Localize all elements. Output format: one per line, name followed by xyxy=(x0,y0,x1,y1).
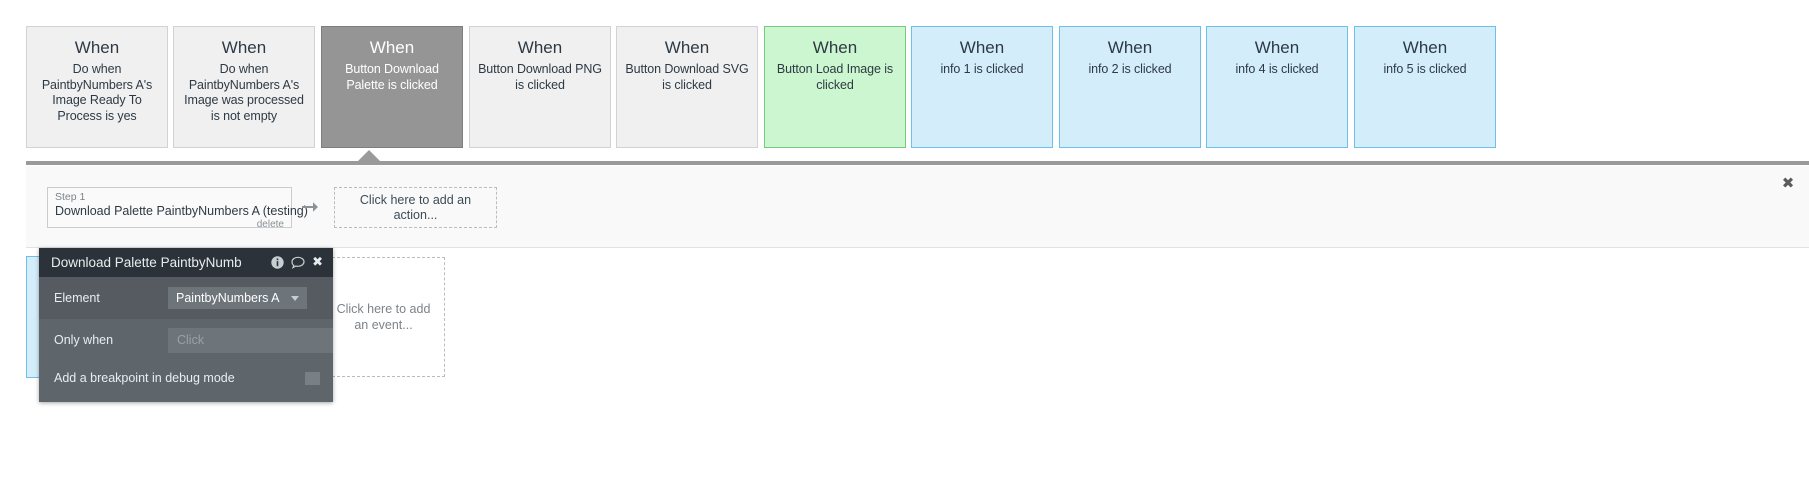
event-card-when-label: When xyxy=(1355,37,1495,59)
event-card-when-label: When xyxy=(617,37,757,59)
arrow-right-icon xyxy=(301,199,319,215)
step-number-label: Step 1 xyxy=(55,191,284,204)
step-card[interactable]: Step 1 Download Palette PaintbyNumbers A… xyxy=(47,187,292,228)
step-delete-link[interactable]: delete xyxy=(55,219,284,230)
event-card-condition: Button Download SVG is clicked xyxy=(617,62,757,93)
breakpoint-checkbox[interactable] xyxy=(305,372,320,385)
event-card-condition: Do when PaintbyNumbers A's Image Ready T… xyxy=(27,62,167,124)
event-card-when-label: When xyxy=(322,37,462,59)
workflow-editor: When Do when PaintbyNumbers A's Image Re… xyxy=(0,0,1809,500)
event-card-0[interactable]: When Do when PaintbyNumbers A's Image Re… xyxy=(26,26,168,148)
event-card-3[interactable]: When Button Download PNG is clicked xyxy=(469,26,611,148)
popup-header: Download Palette PaintbyNumb ✖ xyxy=(39,248,333,277)
event-card-7[interactable]: When info 2 is clicked xyxy=(1059,26,1201,148)
event-card-5[interactable]: When Button Load Image is clicked xyxy=(764,26,906,148)
event-card-2-selected[interactable]: When Button Download Palette is clicked xyxy=(321,26,463,148)
element-field-label: Element xyxy=(54,291,168,305)
comment-icon[interactable] xyxy=(291,256,305,269)
step-title: Download Palette PaintbyNumbers A (testi… xyxy=(55,204,284,219)
event-card-condition: info 1 is clicked xyxy=(912,62,1052,78)
selected-event-pointer xyxy=(358,150,380,161)
event-card-1[interactable]: When Do when PaintbyNumbers A's Image wa… xyxy=(173,26,315,148)
event-card-condition: info 2 is clicked xyxy=(1060,62,1200,78)
event-card-9[interactable]: When info 5 is clicked xyxy=(1354,26,1496,148)
close-icon[interactable]: ✖ xyxy=(1781,176,1795,190)
panel-divider-bar xyxy=(26,161,1809,165)
actions-panel: ✖ Step 1 Download Palette PaintbyNumbers… xyxy=(26,166,1809,248)
element-select[interactable]: PaintbyNumbers A xyxy=(168,287,307,309)
add-action-button[interactable]: Click here to add an action... xyxy=(334,187,497,228)
event-card-when-label: When xyxy=(470,37,610,59)
event-card-condition: Do when PaintbyNumbers A's Image was pro… xyxy=(174,62,314,124)
event-card-8[interactable]: When info 4 is clicked xyxy=(1206,26,1348,148)
breakpoint-label: Add a breakpoint in debug mode xyxy=(54,371,305,385)
chevron-down-icon xyxy=(291,296,299,301)
event-card-when-label: When xyxy=(27,37,167,59)
event-card-6[interactable]: When info 1 is clicked xyxy=(911,26,1053,148)
event-card-condition: info 4 is clicked xyxy=(1207,62,1347,78)
event-card-condition: Button Download Palette is clicked xyxy=(322,62,462,93)
event-card-when-label: When xyxy=(1207,37,1347,59)
event-card-when-label: When xyxy=(765,37,905,59)
event-card-when-label: When xyxy=(912,37,1052,59)
info-icon[interactable] xyxy=(271,256,284,269)
element-select-value: PaintbyNumbers A xyxy=(176,291,280,305)
popup-row-element: Element PaintbyNumbers A xyxy=(39,277,333,319)
action-properties-popup: Download Palette PaintbyNumb ✖ xyxy=(39,248,333,402)
event-card-condition: Button Load Image is clicked xyxy=(765,62,905,93)
only-when-input[interactable]: Click xyxy=(168,328,333,353)
popup-row-only-when: Only when Click xyxy=(39,319,333,361)
popup-header-icons: ✖ xyxy=(271,256,323,269)
popup-row-breakpoint: Add a breakpoint in debug mode xyxy=(39,361,333,395)
only-when-field-label: Only when xyxy=(54,333,168,347)
add-event-button[interactable]: Click here to add an event... xyxy=(322,257,445,377)
popup-title: Download Palette PaintbyNumb xyxy=(51,255,271,270)
event-card-condition: info 5 is clicked xyxy=(1355,62,1495,78)
popup-close-icon[interactable]: ✖ xyxy=(312,256,323,269)
event-card-strip: When Do when PaintbyNumbers A's Image Re… xyxy=(0,0,1809,175)
event-card-condition: Button Download PNG is clicked xyxy=(470,62,610,93)
event-card-4[interactable]: When Button Download SVG is clicked xyxy=(616,26,758,148)
only-when-placeholder: Click xyxy=(177,333,204,347)
event-card-when-label: When xyxy=(1060,37,1200,59)
event-card-when-label: When xyxy=(174,37,314,59)
